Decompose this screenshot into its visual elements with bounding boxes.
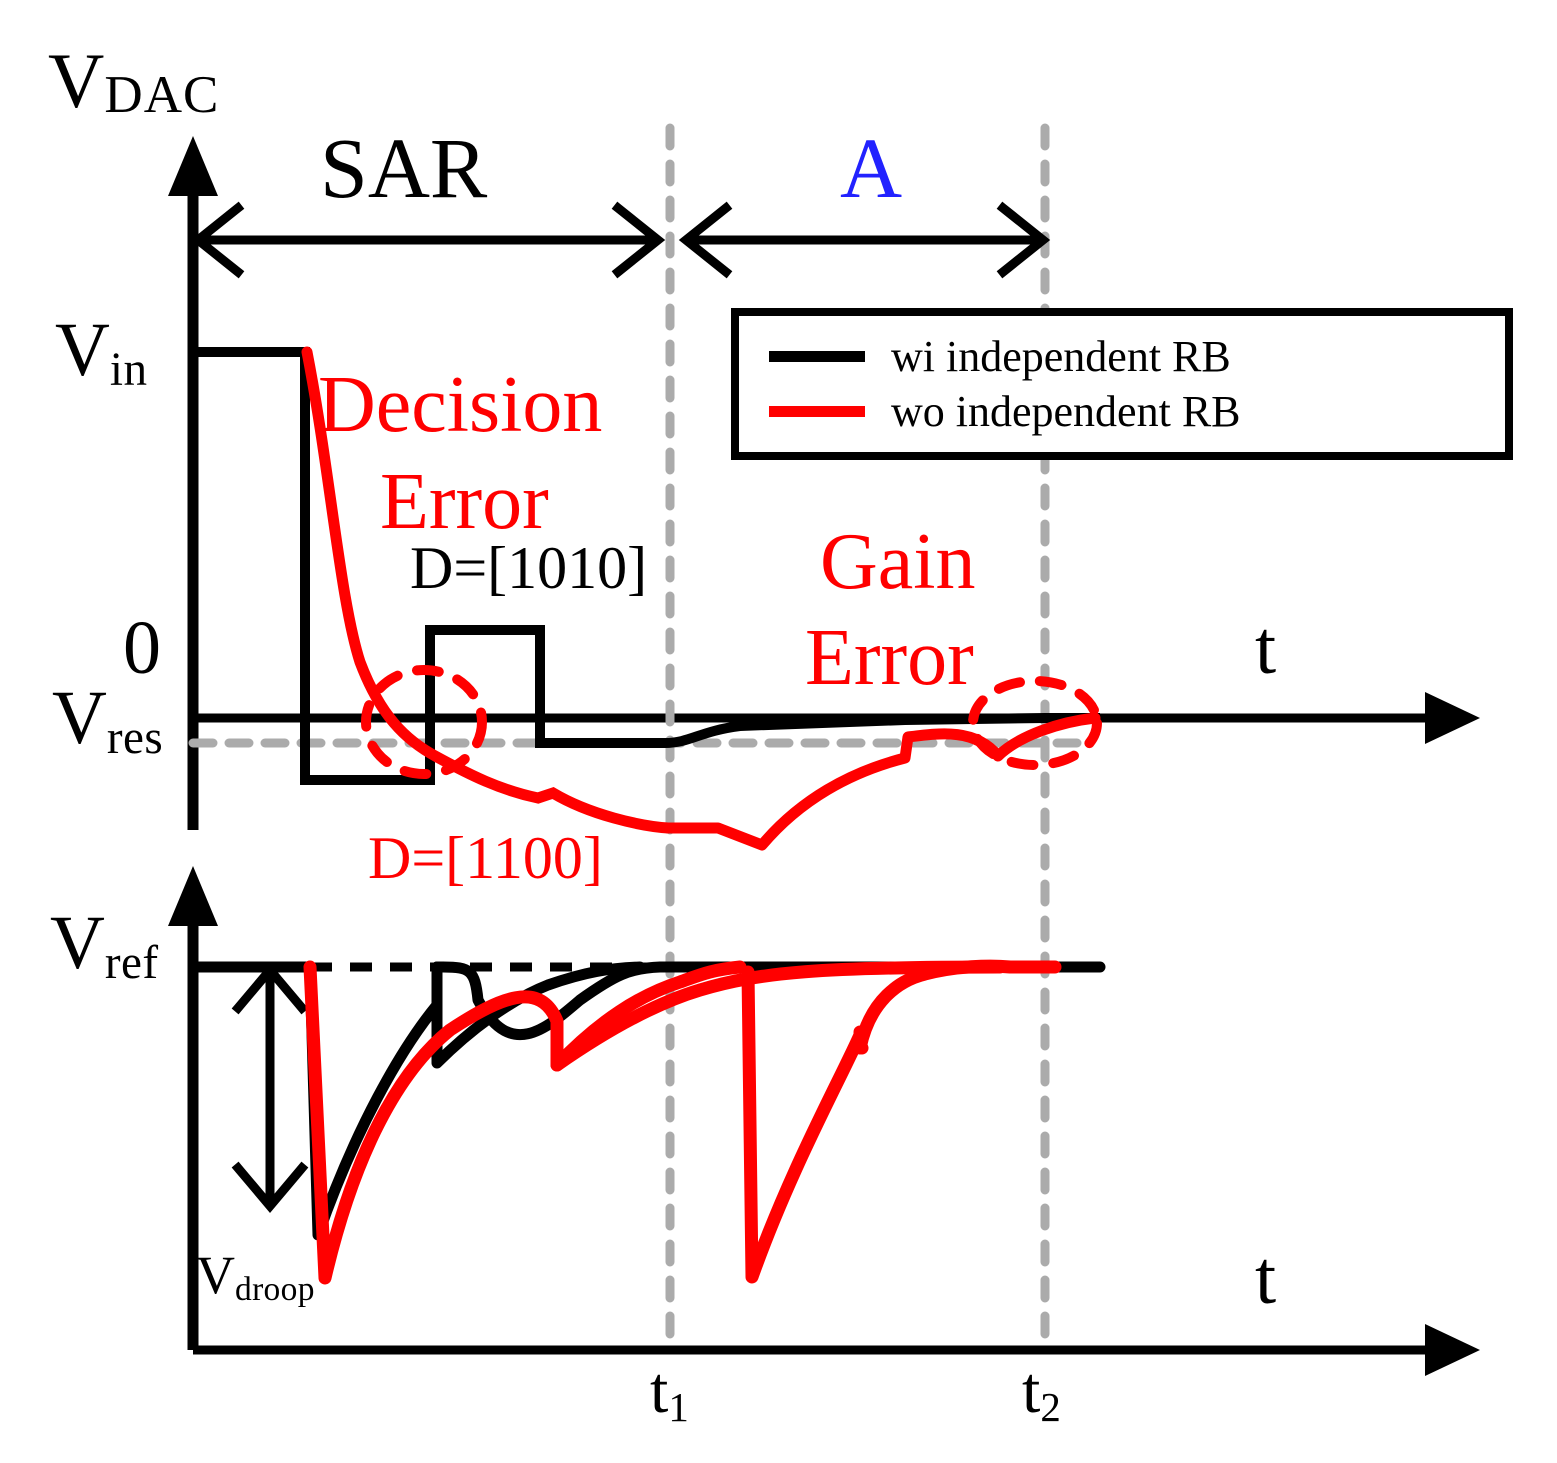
gain-text: Gain: [820, 518, 976, 606]
top-x-axis-label: t: [1255, 610, 1276, 686]
legend-swatch-red: [769, 406, 865, 417]
gain-error-label-line2: Error: [805, 618, 974, 698]
vin-main: V: [55, 308, 110, 392]
bottom-t-text: t: [1255, 1236, 1276, 1320]
zero-tick-label: 0: [123, 610, 161, 686]
bottom-x-axis-label: t: [1255, 1240, 1276, 1316]
amplification-phase-arrow: [686, 208, 1043, 272]
vdroop-arrow: [238, 970, 302, 1206]
vref-red-waveform: [310, 967, 740, 1278]
legend-label-wo-rb: wo independent RB: [891, 386, 1241, 437]
legend-box: wi independent RB wo independent RB: [731, 308, 1513, 460]
vref-red-amp-notch: [860, 1032, 862, 1048]
t1-marker-label: t1: [650, 1358, 689, 1424]
legend-item-wi-rb[interactable]: wi independent RB: [769, 331, 1505, 382]
vdac-main: V: [48, 37, 104, 124]
t1-sub: 1: [668, 1385, 689, 1430]
code-black-text: D=[1010]: [410, 535, 647, 601]
vres-sub: res: [107, 712, 163, 764]
vref-axis-label: Vref: [50, 905, 159, 981]
vref-main: V: [50, 901, 105, 985]
a-text: A: [840, 120, 902, 216]
sar-phase-arrow: [198, 208, 658, 272]
legend-swatch-black: [769, 351, 865, 362]
sar-phase-label: SAR: [320, 125, 487, 211]
zero-text: 0: [123, 606, 161, 690]
code-black-label: D=[1010]: [410, 538, 647, 598]
vres-tick-label: Vres: [52, 680, 163, 756]
vdac-sub: DAC: [104, 66, 219, 124]
sar-text: SAR: [320, 120, 487, 216]
error-text-1: Error: [380, 458, 549, 546]
decision-text: Decision: [318, 361, 602, 449]
vdroop-label: Vdroop: [196, 1248, 315, 1302]
vdroop-main: V: [196, 1245, 235, 1305]
t2-marker-label: t2: [1022, 1358, 1061, 1424]
vres-main: V: [52, 676, 107, 760]
top-t-text: t: [1255, 606, 1276, 690]
vin-sub: in: [110, 344, 148, 396]
legend-item-wo-rb[interactable]: wo independent RB: [769, 386, 1505, 437]
t2-main: t: [1022, 1354, 1040, 1427]
vdroop-sub: droop: [235, 1271, 315, 1308]
error-text-2: Error: [805, 614, 974, 702]
vin-tick-label: Vin: [55, 312, 147, 388]
code-red-text: D=[1100]: [368, 825, 603, 891]
figure-root: VDAC SAR A Vin 0 Vres Decision Error D=[…: [0, 0, 1557, 1463]
gain-error-label-line1: Gain: [820, 522, 976, 602]
code-red-label: D=[1100]: [368, 828, 603, 888]
diagram-canvas: [0, 0, 1557, 1463]
t1-main: t: [650, 1354, 668, 1427]
vdac-red-waveform-amp: [668, 718, 1095, 845]
vref-red-waveform-2: [557, 967, 1000, 1065]
vref-red-amp-droop: [748, 966, 1055, 1277]
t2-sub: 2: [1040, 1385, 1061, 1430]
bottom-x-axis: [193, 1324, 1480, 1376]
decision-error-label-line2: Error: [380, 462, 549, 542]
top-y-axis-label: VDAC: [48, 42, 220, 120]
decision-error-label-line1: Decision: [318, 365, 602, 445]
amplification-phase-label: A: [840, 125, 902, 211]
vref-sub: ref: [105, 937, 159, 989]
legend-label-wi-rb: wi independent RB: [891, 331, 1231, 382]
